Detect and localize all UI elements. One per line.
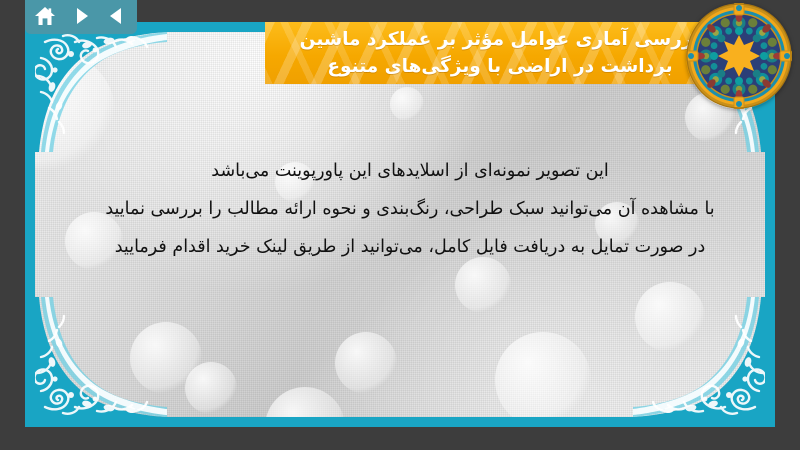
previous-slide-button[interactable] [104,4,130,28]
bokeh-circle [335,332,397,394]
body-line-2: با مشاهده آن می‌توانید سبک طراحی، رنگ‌بن… [45,190,765,228]
bokeh-circle [265,387,345,417]
arabesque-corner-ornament-icon [633,297,765,417]
home-icon [34,6,56,26]
body-line-1: این تصویر نمونه‌ای از اسلایدهای این پاور… [45,152,765,190]
slide-viewer: این تصویر نمونه‌ای از اسلایدهای این پاور… [0,0,800,450]
triangle-left-icon [107,6,127,26]
bokeh-circle [390,87,424,121]
bokeh-circle [495,332,591,417]
arabesque-corner-ornament-icon [35,32,167,152]
bokeh-circle [185,362,237,414]
slide-title-line-2: برداشت در اراضی با ویژگی‌های متنوع [327,53,672,80]
slide-navigation-toolbar [25,0,137,34]
persian-medallion-ornament-icon [686,3,792,109]
slide-title-banner: بررسی آماری عوامل مؤثر بر عملکرد ماشین ب… [265,22,735,84]
next-slide-button[interactable] [68,4,94,28]
body-line-3: در صورت تمایل به دریافت فایل کامل، می‌تو… [45,228,765,266]
arabesque-corner-ornament-icon [35,297,167,417]
bokeh-circle [130,322,202,394]
home-button[interactable] [32,4,58,28]
slide-content-area: این تصویر نمونه‌ای از اسلایدهای این پاور… [35,32,765,417]
bokeh-circle [635,282,705,352]
triangle-right-icon [71,6,91,26]
slide-title-line-1: بررسی آماری عوامل مؤثر بر عملکرد ماشین [300,26,701,53]
slide-body: این تصویر نمونه‌ای از اسلایدهای این پاور… [45,152,765,266]
